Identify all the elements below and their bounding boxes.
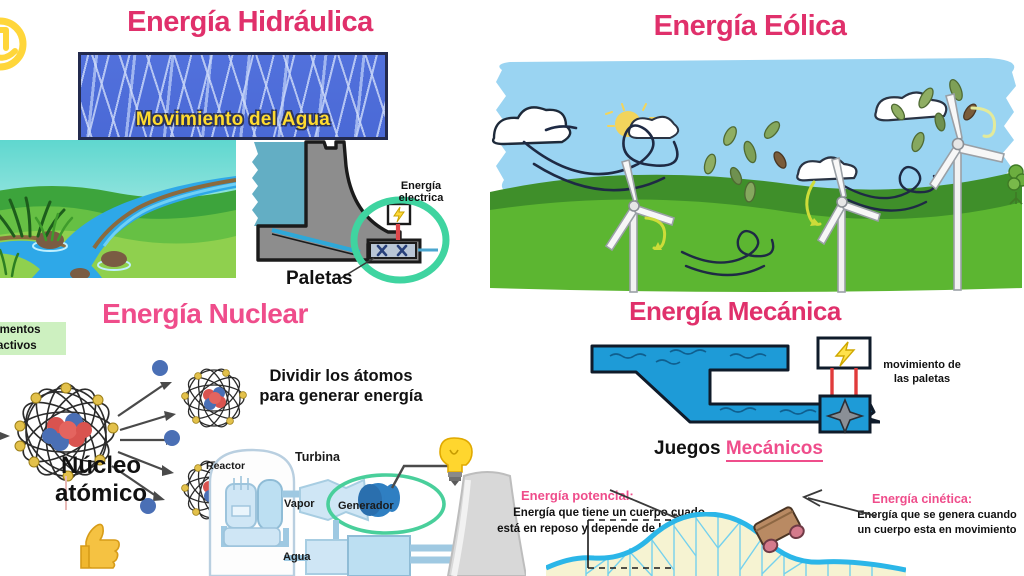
label-elementos-radioactivos: lementos oactivos	[0, 322, 66, 355]
label-nucleo-atomico: Núcleo atómico	[36, 452, 166, 507]
section-title-mecanica: Energía Mecánica	[620, 296, 850, 327]
label-energia-electrica: Energía electrica	[386, 180, 456, 205]
water-movement-banner: Movimiento del Agua	[78, 52, 388, 140]
neutron	[152, 360, 168, 376]
subsection-title-juegos-mecanicos: Juegos Mecánicos	[654, 438, 823, 460]
cloud	[629, 117, 678, 138]
roller-coaster-diagram	[546, 512, 906, 576]
reservoir-water	[252, 142, 306, 226]
label-reactor: Reactor	[206, 460, 245, 472]
river-landscape-image	[0, 140, 236, 278]
label-turbina: Turbina	[295, 450, 340, 464]
section-title-eolica: Energía Eólica	[630, 10, 870, 43]
mechanical-water-channel-diagram	[570, 330, 880, 440]
smiley-face-icon	[0, 14, 40, 76]
infographic-canvas: Energía Hidráulica Energía Eólica Energí…	[0, 0, 1024, 576]
wind-energy-scene	[488, 42, 1024, 294]
water-banner-label: Movimiento del Agua	[81, 109, 385, 131]
mecanicos-word: Mecánicos	[726, 438, 823, 462]
label-energia-cinetica-heading: Energía cinética:	[872, 492, 972, 506]
neutron	[164, 430, 180, 446]
hydroelectric-dam-diagram	[248, 140, 488, 290]
thumbs-up-icon	[78, 520, 122, 570]
label-agua: Agua	[283, 551, 311, 563]
label-vapor: Vapor	[284, 498, 315, 510]
label-dividir-atomos: Dividir los átomos para generar energía	[256, 366, 426, 406]
label-paletas: Paletas	[286, 268, 353, 289]
roller-coaster-cart	[748, 502, 810, 558]
juegos-word: Juegos	[654, 438, 721, 459]
label-movimiento-paletas: movimiento de las paletas	[872, 358, 972, 387]
label-generador: Generador	[338, 500, 394, 512]
section-title-hidraulica: Energía Hidráulica	[120, 6, 380, 39]
small-atom	[182, 365, 247, 430]
